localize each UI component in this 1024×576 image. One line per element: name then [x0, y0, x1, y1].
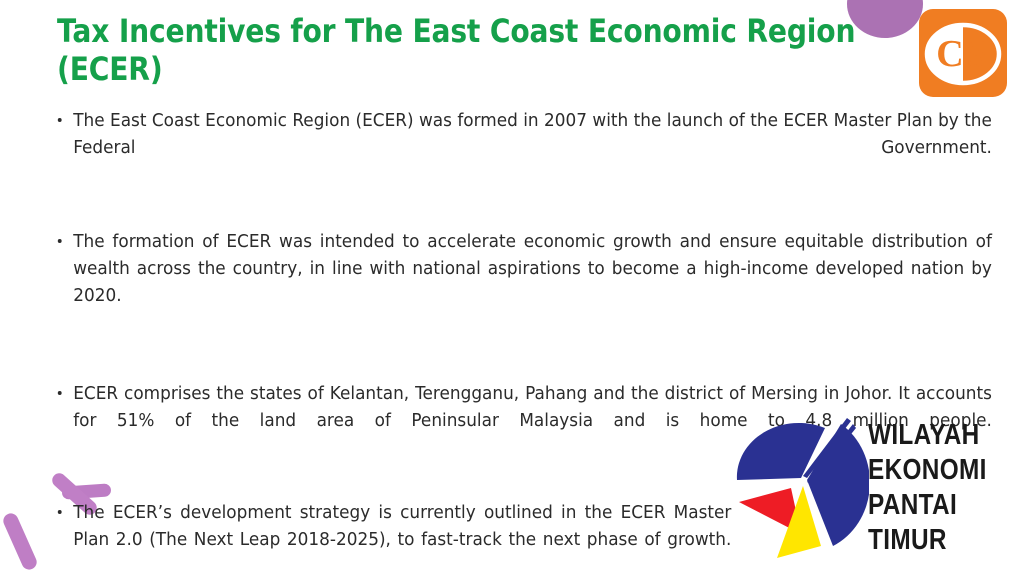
- ecer-wordmark: WILAYAH EKONOMI PANTAI TIMUR: [868, 418, 1020, 558]
- slide-canvas: Tax Incentives for The East Coast Econom…: [0, 0, 1024, 576]
- bullet-marker-icon: [58, 391, 62, 395]
- bullet-item: The formation of ECER was intended to ac…: [52, 229, 992, 337]
- ecer-word-timur: TIMUR: [868, 523, 996, 558]
- bullet-marker-icon: [58, 510, 62, 514]
- cs-logo-letter-s: S: [966, 33, 987, 75]
- slide-title: Tax Incentives for The East Coast Econom…: [57, 12, 877, 88]
- cs-logo: C S: [919, 9, 1007, 97]
- bullet-text: The ECER’s development strategy is curre…: [73, 500, 731, 576]
- title-line-2: (ECER): [57, 50, 779, 88]
- cs-logo-icon: C S: [919, 9, 1007, 97]
- bullet-marker-icon: [58, 239, 62, 243]
- ecer-logo: WILAYAH EKONOMI PANTAI TIMUR: [729, 418, 1019, 568]
- ecer-pinwheel-icon: [729, 418, 869, 564]
- ecer-word-wilayah: WILAYAH: [868, 418, 996, 453]
- bullet-item: The East Coast Economic Region (ECER) wa…: [52, 108, 992, 189]
- cs-logo-letter-c: C: [936, 33, 963, 75]
- title-line-1: Tax Incentives for The East Coast Econom…: [57, 12, 779, 50]
- bullet-text: The formation of ECER was intended to ac…: [73, 229, 992, 337]
- bullet-item: The ECER’s development strategy is curre…: [52, 500, 731, 576]
- bullet-text: The East Coast Economic Region (ECER) wa…: [73, 108, 992, 189]
- ecer-word-ekonomi: EKONOMI: [868, 453, 996, 488]
- ecer-word-pantai: PANTAI: [868, 488, 996, 523]
- bullet-marker-icon: [58, 118, 62, 122]
- purple-dash-decoration-c: [1, 511, 39, 572]
